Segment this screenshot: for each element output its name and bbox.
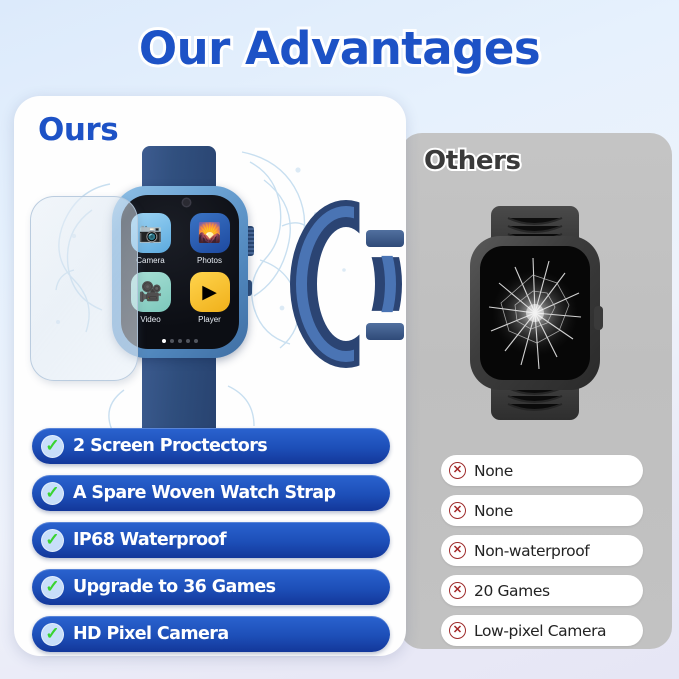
- app-photos[interactable]: 🌄 Photos: [190, 213, 230, 265]
- front-camera-icon: [183, 199, 190, 206]
- check-circle-icon: ✓: [41, 529, 64, 552]
- app-label: Player: [198, 315, 221, 324]
- check-circle-icon: ✓: [41, 576, 64, 599]
- list-item-label: Non-waterproof: [474, 542, 589, 560]
- spare-woven-strap: [290, 200, 402, 368]
- list-item-label: HD Pixel Camera: [73, 624, 229, 644]
- others-watch-image: [436, 188, 636, 438]
- list-item-label: 20 Games: [474, 582, 550, 600]
- list-item-label: IP68 Waterproof: [73, 530, 226, 550]
- cross-circle-icon: ✕: [449, 462, 466, 479]
- list-item-label: Upgrade to 36 Games: [73, 577, 275, 597]
- player-icon: ▶: [190, 272, 230, 312]
- page-title: Our Advantages: [0, 22, 679, 75]
- cross-circle-icon: ✕: [449, 542, 466, 559]
- list-item-label: Low-pixel Camera: [474, 622, 606, 640]
- list-item: ✓ Upgrade to 36 Games: [32, 569, 390, 605]
- cross-circle-icon: ✕: [449, 622, 466, 639]
- others-feature-list: ✕ None ✕ None ✕ Non-waterproof ✕ 20 Game…: [441, 455, 643, 655]
- screen-protector-overlay: [30, 196, 138, 381]
- ours-feature-list: ✓ 2 Screen Proctectors ✓ A Spare Woven W…: [32, 428, 390, 663]
- photos-icon: 🌄: [190, 213, 230, 253]
- list-item: ✕ Non-waterproof: [441, 535, 643, 566]
- list-item-label: None: [474, 502, 513, 520]
- watch-app-grid: 📷 Camera 🌄 Photos 🎥 Video ▶ Player: [121, 213, 239, 324]
- list-item: ✓ IP68 Waterproof: [32, 522, 390, 558]
- ours-watch-image: 📷 Camera 🌄 Photos 🎥 Video ▶ Player: [14, 140, 406, 430]
- advantages-comparison-graphic: Our Advantages: [0, 0, 679, 679]
- others-label: Others: [424, 146, 521, 176]
- cross-circle-icon: ✕: [449, 502, 466, 519]
- list-item: ✕ None: [441, 455, 643, 486]
- app-label: Camera: [136, 256, 164, 265]
- list-item: ✕ Low-pixel Camera: [441, 615, 643, 646]
- list-item-label: None: [474, 462, 513, 480]
- list-item: ✕ None: [441, 495, 643, 526]
- cross-circle-icon: ✕: [449, 582, 466, 599]
- list-item: ✕ 20 Games: [441, 575, 643, 606]
- list-item: ✓ HD Pixel Camera: [32, 616, 390, 652]
- list-item-label: 2 Screen Proctectors: [73, 436, 267, 456]
- check-circle-icon: ✓: [41, 435, 64, 458]
- check-circle-icon: ✓: [41, 623, 64, 646]
- list-item: ✓ A Spare Woven Watch Strap: [32, 475, 390, 511]
- app-label: Photos: [197, 256, 222, 265]
- app-label: Video: [140, 315, 160, 324]
- ours-label: Ours: [38, 112, 118, 148]
- check-circle-icon: ✓: [41, 482, 64, 505]
- list-item: ✓ 2 Screen Proctectors: [32, 428, 390, 464]
- watch-screen: 📷 Camera 🌄 Photos 🎥 Video ▶ Player: [121, 195, 239, 349]
- app-player[interactable]: ▶ Player: [190, 272, 230, 324]
- list-item-label: A Spare Woven Watch Strap: [73, 483, 335, 503]
- page-dots: [121, 339, 239, 343]
